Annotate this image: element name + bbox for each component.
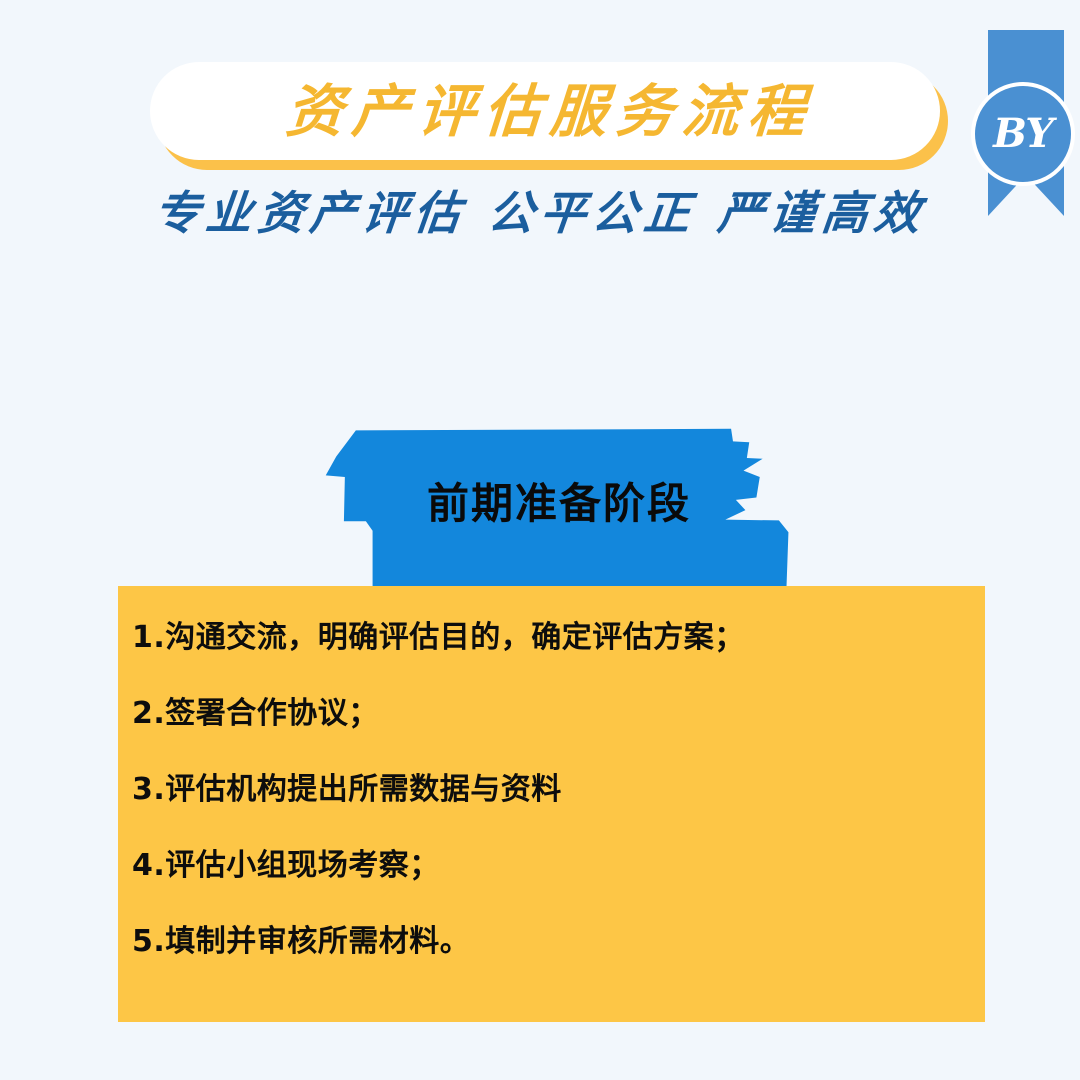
badge-initials: BY: [993, 114, 1053, 154]
page-title: 资产评估服务流程: [274, 83, 816, 140]
title-banner: 资产评估服务流程: [150, 62, 948, 170]
stage-title: 前期准备阶段: [320, 483, 798, 525]
ribbon-badge: BY: [988, 30, 1064, 216]
badge-circle-icon: BY: [971, 82, 1075, 186]
step-list: 1.沟通交流，明确评估目的，确定评估方案； 2.签署合作协议； 3.评估机构提出…: [132, 620, 955, 960]
stage-banner: 前期准备阶段: [320, 428, 798, 586]
list-item: 4.评估小组现场考察；: [132, 848, 955, 884]
list-item: 1.沟通交流，明确评估目的，确定评估方案；: [132, 620, 955, 656]
poster-canvas: 资产评估服务流程 BY 专业资产评估 公平公正 严谨高效 前期准备阶段 1.沟通…: [0, 0, 1080, 1080]
page-subtitle: 专业资产评估 公平公正 严谨高效: [152, 190, 929, 236]
subtitle-row: 专业资产评估 公平公正 严谨高效: [0, 190, 1080, 236]
list-item: 3.评估机构提出所需数据与资料: [132, 772, 955, 808]
title-pill: 资产评估服务流程: [150, 62, 940, 160]
list-item: 5.填制并审核所需材料。: [132, 924, 955, 960]
list-item: 2.签署合作协议；: [132, 696, 955, 732]
content-panel: 1.沟通交流，明确评估目的，确定评估方案； 2.签署合作协议； 3.评估机构提出…: [118, 586, 985, 1022]
